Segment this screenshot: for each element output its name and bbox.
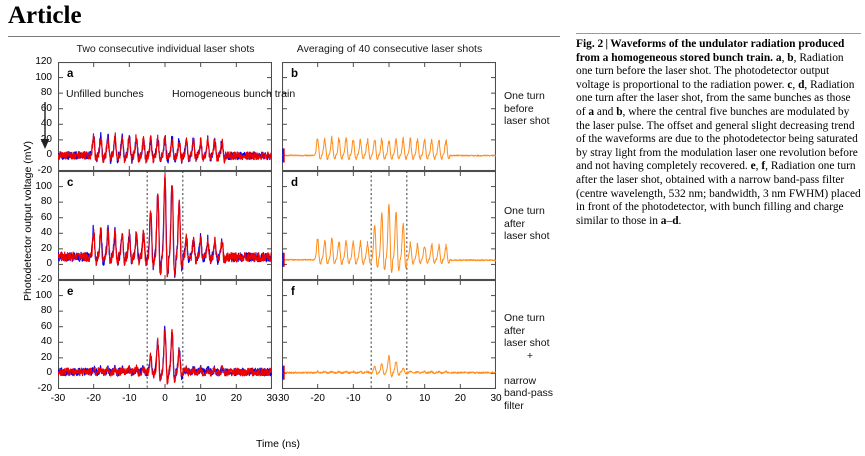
figure-caption: Fig. 2 | Waveforms of the undulator radi… (576, 38, 861, 228)
x-tick-label: -10 (338, 393, 368, 404)
y-tick-label: 80 (22, 305, 52, 316)
x-tick-label: 10 (410, 393, 440, 404)
y-tick-label: 100 (22, 290, 52, 301)
plot-panel-b (282, 62, 496, 171)
y-tick-label: 0 (22, 149, 52, 160)
panel-letter-a: a (67, 68, 73, 80)
x-tick-label: 20 (221, 393, 251, 404)
annotation-unfilled-bunches: Unfilled bunches (66, 88, 144, 100)
column-header-averaged-shots: Averaging of 40 consecutive laser shots (282, 43, 497, 55)
row-label-2: One turnafterlaser shot (504, 205, 550, 243)
figure-2: Two consecutive individual laser shots A… (0, 40, 568, 456)
y-tick-label: 60 (22, 212, 52, 223)
y-tick-label: 100 (22, 181, 52, 192)
x-tick-label: 0 (374, 393, 404, 404)
plot-panel-f (282, 280, 496, 389)
x-tick-label: -20 (79, 393, 109, 404)
y-tick-label: 100 (22, 72, 52, 83)
panel-letter-b: b (291, 68, 298, 80)
x-tick-label: 0 (150, 393, 180, 404)
plot-panel-e (58, 280, 272, 389)
x-tick-label: -30 (43, 393, 73, 404)
row-label-1: One turnbeforelaser shot (504, 90, 550, 128)
page-title: Article (8, 2, 82, 30)
plot-panel-c (58, 171, 272, 280)
x-tick-label: -20 (303, 393, 333, 404)
y-tick-label: 20 (22, 243, 52, 254)
y-tick-label: 80 (22, 196, 52, 207)
y-tick-label: 40 (22, 336, 52, 347)
y-tick-label: 60 (22, 321, 52, 332)
panel-letter-d: d (291, 177, 298, 189)
x-tick-label: -30 (267, 393, 297, 404)
plot-panel-a (58, 62, 272, 171)
y-tick-label: -20 (22, 274, 52, 285)
caption-divider (576, 33, 861, 34)
panel-letter-e: e (67, 286, 73, 298)
y-tick-label: 120 (22, 56, 52, 67)
x-tick-label: 10 (186, 393, 216, 404)
y-tick-label: 80 (22, 87, 52, 98)
annotation-homogeneous-bunch-train: Homogeneous bunch train (172, 88, 295, 100)
row-label-3: One turnafterlaser shot+narrowband-passf… (504, 312, 556, 412)
title-divider (8, 36, 560, 37)
caption-body: a, b, Radiation one turn before the lase… (576, 52, 861, 227)
y-tick-label: 40 (22, 227, 52, 238)
plot-panel-d (282, 171, 496, 280)
y-tick-label: 20 (22, 352, 52, 363)
y-tick-label: -20 (22, 165, 52, 176)
panel-letter-f: f (291, 286, 295, 298)
y-tick-label: 0 (22, 258, 52, 269)
arrow-icon (38, 102, 52, 150)
panel-letter-c: c (67, 177, 73, 189)
x-tick-label: -10 (114, 393, 144, 404)
x-axis-label: Time (ns) (118, 438, 438, 450)
y-tick-label: 0 (22, 367, 52, 378)
column-header-individual-shots: Two consecutive individual laser shots (58, 43, 273, 55)
x-tick-label: 20 (445, 393, 475, 404)
